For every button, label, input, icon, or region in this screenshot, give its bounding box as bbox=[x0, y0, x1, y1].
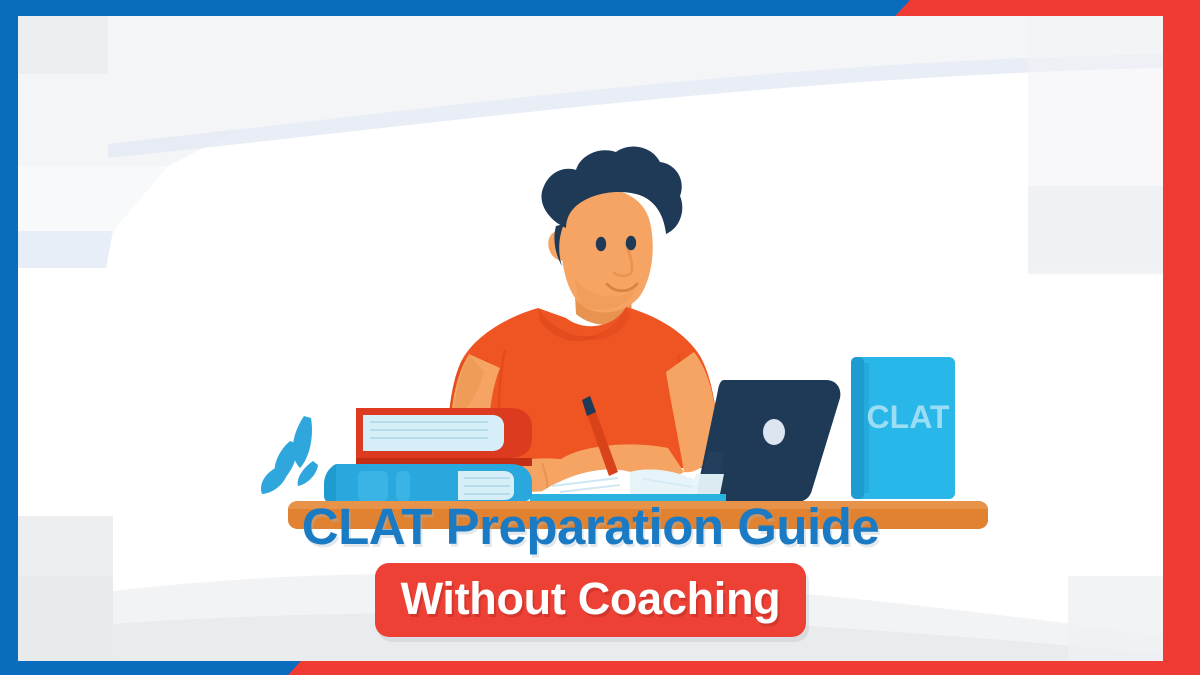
clat-book-label: CLAT bbox=[867, 399, 950, 435]
subtitle-badge: Without Coaching bbox=[375, 563, 807, 637]
laptop-keyboard-edge bbox=[690, 474, 724, 494]
character-head bbox=[541, 147, 682, 313]
inner-white-card: CLAT CLAT Preparation Guide Without Coac… bbox=[18, 16, 1163, 661]
red-book-pages bbox=[363, 415, 504, 451]
clat-book: CLAT bbox=[851, 357, 955, 499]
leaf-decoration bbox=[261, 416, 318, 494]
eye-right bbox=[626, 236, 636, 250]
laptop-logo bbox=[763, 419, 785, 445]
eye-left bbox=[596, 237, 606, 251]
subtitle-wrap: Without Coaching bbox=[18, 563, 1163, 637]
page-title: CLAT Preparation Guide bbox=[18, 500, 1163, 554]
clat-book-spine bbox=[851, 357, 864, 499]
banner-root: CLAT CLAT Preparation Guide Without Coac… bbox=[0, 0, 1200, 675]
books-stack bbox=[324, 408, 532, 504]
title-block: CLAT Preparation Guide Without Coaching bbox=[18, 500, 1163, 637]
